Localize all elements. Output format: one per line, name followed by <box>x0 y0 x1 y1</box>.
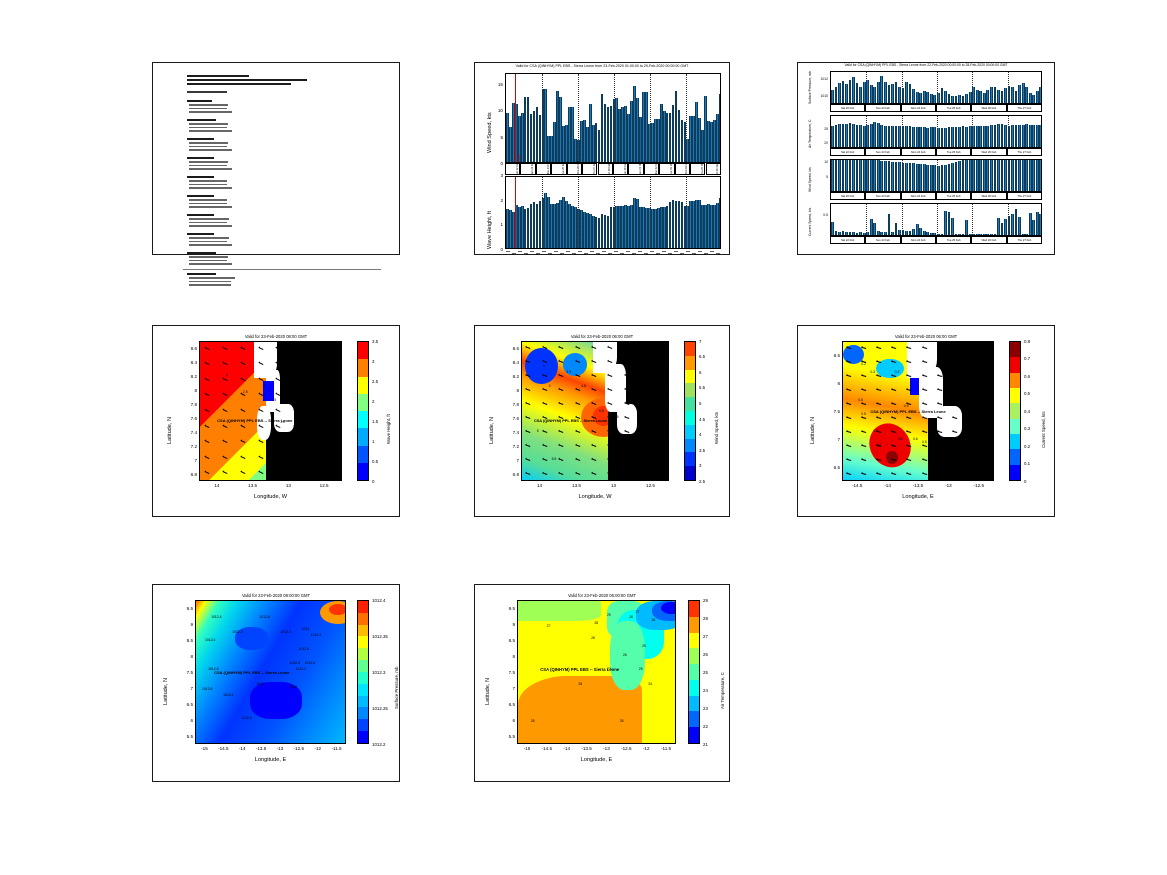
bar <box>859 87 862 104</box>
x-tick-label: -12.5 <box>292 746 306 751</box>
x-tick-label <box>524 253 528 254</box>
bar <box>877 231 880 235</box>
panel-map-surface-pressure: Valid for 23-Feb-2020 08:00:00 GMT 1012.… <box>152 584 400 782</box>
contour-label: 5 <box>649 454 651 458</box>
colorbar-tick-label: 24 <box>703 688 708 693</box>
report-section-line <box>189 237 229 239</box>
contour-label: 0.4 <box>955 451 960 455</box>
contour-label: 0.6 <box>943 437 948 441</box>
contour-label: 4.5 <box>637 434 642 438</box>
bar <box>976 234 979 235</box>
day-band: Thu 27 Feb <box>582 163 597 175</box>
colorbar-tick-label: 2.5 <box>699 479 705 484</box>
bar <box>831 126 834 147</box>
x-tick-label: -13 <box>941 483 955 488</box>
bar <box>1015 125 1018 147</box>
bar <box>873 87 876 104</box>
bar <box>905 82 908 103</box>
bar <box>962 126 965 147</box>
report-section-heading <box>187 273 216 275</box>
bar <box>986 126 989 147</box>
colorbar-tick-label: 1012.35 <box>372 634 388 639</box>
y-tick-label: 8 <box>184 388 197 393</box>
bar <box>852 124 855 147</box>
colorbar-segment <box>689 617 699 633</box>
bar <box>933 95 936 103</box>
report-section-heading <box>187 138 214 140</box>
contour-label: 27 <box>547 624 551 628</box>
bar <box>1039 125 1042 147</box>
report-section-line <box>189 187 232 189</box>
bar <box>1022 234 1025 235</box>
y-tick-label: 6.8 <box>506 472 519 477</box>
y-tick-label: 20 <box>814 141 828 145</box>
day-band: Wed 26 Feb <box>971 236 1006 244</box>
bar <box>873 160 876 191</box>
bar <box>880 232 883 235</box>
bar <box>979 126 982 147</box>
y-tick-label: 1010 <box>814 94 828 98</box>
y-tick-label: 10 <box>495 108 503 113</box>
site-label: CSA (QINHYM) PPL EBS -- Sierra Leone <box>214 670 289 675</box>
bar <box>1029 125 1032 147</box>
x-tick-label <box>710 251 714 252</box>
contour-label: 3 <box>226 373 228 377</box>
x-tick-label <box>506 251 510 252</box>
panel-map-wave-height: Valid for 23-Feb-2020 08:00 GMT 32.521.5… <box>152 325 400 517</box>
report-section-line <box>189 260 227 262</box>
day-band: Tue 03 Mar <box>659 163 674 175</box>
x-tick-label <box>674 251 678 252</box>
bar <box>880 125 883 147</box>
y-tick-label: 7 <box>502 686 515 691</box>
bar <box>933 165 936 191</box>
day-gridline <box>1008 204 1009 235</box>
contour-label: 0.5 <box>858 398 863 402</box>
colorbar-segment <box>358 636 368 648</box>
panel-map-wind-speed: Valid for 23-Feb-2020 06:00 GMT 43.534.5… <box>474 325 730 517</box>
day-gridline <box>614 177 615 248</box>
report-section-line <box>189 222 227 224</box>
colorbar-tick-label: 22 <box>703 724 708 729</box>
colorbar-label-pressure: Surface Pressure, mb <box>394 667 399 709</box>
report-section-heading <box>187 252 216 254</box>
bar <box>831 90 834 103</box>
temp-band-21 <box>661 602 676 614</box>
bar <box>898 162 901 191</box>
day-band-label: Tue 03 Mar <box>670 162 673 175</box>
bar <box>926 92 929 103</box>
day-gridline <box>650 74 651 162</box>
xaxis-label-current-map: Longitude, E <box>842 494 994 500</box>
day-gridline <box>866 116 867 147</box>
x-tick-label <box>668 253 672 254</box>
bar <box>997 160 1000 192</box>
x-tick-label <box>716 253 720 254</box>
day-gridline <box>972 72 973 103</box>
forecast-text-body <box>153 63 399 254</box>
x-tick-label: -12.5 <box>972 483 986 488</box>
colorbar-tick-label: 0 <box>372 479 374 484</box>
bar <box>852 159 855 191</box>
day-band: Mon 24 Feb <box>901 148 936 156</box>
bar <box>845 232 848 235</box>
bar <box>1025 234 1028 235</box>
bars-container <box>831 72 1041 103</box>
colorbar-tick-label: 26 <box>703 652 708 657</box>
bar <box>1025 87 1028 104</box>
map-title-pressure: Valid for 23-Feb-2020 08:00:00 GMT <box>153 593 399 598</box>
bar <box>856 233 859 235</box>
x-tick-label <box>698 251 702 252</box>
y-tick-label: 7 <box>827 437 840 442</box>
day-band: Thu 05 Mar <box>690 163 705 175</box>
panel-timeseries-wind-wave: Valid for CSA (QINHYM) PPL EBS - Sierra … <box>474 62 730 255</box>
colorbar-segment <box>689 664 699 680</box>
x-tick-label <box>614 251 618 252</box>
colorbar-segment <box>358 672 368 684</box>
x-tick-label <box>548 253 552 254</box>
bar <box>845 84 848 103</box>
bar <box>926 165 929 191</box>
colorbar-label-wave: Wave Height, ft <box>386 414 391 444</box>
bar <box>1022 125 1025 147</box>
contour-label: 1013.2 <box>311 633 321 637</box>
report-section-line <box>189 244 232 246</box>
day-band: Sat 22 Feb <box>830 148 865 156</box>
colorbar-tick-label: 3.5 <box>372 339 378 344</box>
y-tick-label: 0.5 <box>814 213 828 217</box>
x-tick-label: -11.5 <box>659 746 673 751</box>
map-title-airtemp: Valid for 23-Feb-2020 06:00:00 GMT <box>475 593 729 598</box>
bar <box>912 127 915 147</box>
bar <box>941 165 944 191</box>
yaxis-label-subplot-3: Current Speed, kts <box>808 208 812 236</box>
report-section-line <box>189 130 232 132</box>
y-tick-label: 15 <box>495 82 503 87</box>
contour-label: 5.5 <box>620 440 625 444</box>
xaxis-label-wind-map: Longitude, W <box>521 494 669 500</box>
colorbar-segment <box>358 394 368 411</box>
bar <box>905 126 908 147</box>
colorbar-pressure <box>357 600 369 744</box>
site-label: CSA (QINHYM) PPL EBS -- Sierra Leone <box>217 418 292 423</box>
now-marker-line <box>515 74 516 162</box>
bar <box>990 160 993 192</box>
colorbar-wave <box>357 341 369 481</box>
day-band: Sun 23 Feb <box>865 104 900 112</box>
x-tick-label: -14.5 <box>850 483 864 488</box>
x-tick-label <box>692 253 696 254</box>
x-tick-label: -11.5 <box>330 746 344 751</box>
map-canvas-pressure: 1012.41012.61012.21012.41012.410131013.2… <box>196 601 346 744</box>
day-gridline <box>1008 116 1009 147</box>
colorbar-segment <box>358 660 368 672</box>
axes-wind-speed: Now <box>505 73 721 163</box>
report-section-heading <box>187 100 212 102</box>
x-tick-label: -13 <box>599 746 613 751</box>
y-tick-label: 1012 <box>814 77 828 81</box>
report-section-line <box>189 149 232 151</box>
y-tick-label: 7.8 <box>506 402 519 407</box>
bar <box>969 126 972 147</box>
report-section-line <box>189 218 229 220</box>
panel-map-current-speed: Valid for 23-Feb-2020 06:00 GMT 0.20.30.… <box>797 325 1055 517</box>
bar <box>884 82 887 103</box>
bar <box>948 164 951 191</box>
bar <box>976 126 979 147</box>
colorbar-tick-label: 25 <box>703 670 708 675</box>
x-tick-label: 12.5 <box>644 483 658 488</box>
x-tick-label: -14.5 <box>216 746 230 751</box>
report-section-heading <box>187 214 214 216</box>
colorbar-tick-label: 0.5 <box>372 459 378 464</box>
x-tick-label <box>566 251 570 252</box>
day-gridline <box>937 204 938 235</box>
bar <box>870 124 873 147</box>
bar <box>994 159 997 191</box>
y-tick-label: 0 <box>495 161 503 166</box>
y-tick-label: 0 <box>495 247 503 252</box>
day-gridline <box>866 72 867 103</box>
y-tick-label: 7.2 <box>506 444 519 449</box>
contour-label: 24 <box>648 682 652 686</box>
colorbar-segment <box>689 727 699 743</box>
bar <box>880 76 883 103</box>
bar <box>870 85 873 103</box>
x-tick-label <box>680 253 684 254</box>
bar <box>909 163 912 191</box>
bar <box>930 127 933 147</box>
report-section-line <box>189 284 231 286</box>
contour-label: 28 <box>594 621 598 625</box>
bar <box>1029 93 1032 103</box>
day-gridline <box>866 204 867 235</box>
day-band: Tue 25 Feb <box>551 163 566 175</box>
contour-label: 0.3 <box>873 429 878 433</box>
x-tick-label <box>560 253 564 254</box>
bar <box>863 159 866 191</box>
report-section-line <box>189 277 235 279</box>
bar <box>1022 83 1025 103</box>
bar <box>923 127 926 147</box>
day-band: Sat 22 Feb <box>830 236 865 244</box>
contour-label: 27 <box>636 610 640 614</box>
day-band-label: Wed 26 Feb <box>577 161 580 175</box>
day-band: Sat 22 Feb <box>830 104 865 112</box>
day-band: Thu 27 Feb <box>1007 236 1042 244</box>
y-tick-label: 8 <box>506 388 519 393</box>
bar <box>990 125 993 147</box>
colorbar-tick-label: 1012.4 <box>372 598 385 603</box>
yaxis-label-pressure-map: Latitude, N <box>163 678 169 705</box>
day-gridline <box>578 74 579 162</box>
bar <box>926 128 929 147</box>
y-tick-label: 8.5 <box>502 638 515 643</box>
report-section-line <box>189 127 227 129</box>
contour-label: 2.5 <box>243 390 248 394</box>
bar <box>919 164 922 191</box>
report-section-heading <box>187 195 214 197</box>
bar <box>895 82 898 103</box>
x-tick-label <box>584 253 588 254</box>
bar <box>958 234 961 235</box>
axes-subplot-1 <box>830 115 1042 148</box>
day-band-label: Fri 28 Feb <box>608 163 611 175</box>
x-tick-label <box>542 251 546 252</box>
pressure-high-peak <box>329 604 346 616</box>
day-gridline <box>902 204 903 235</box>
day-gridline <box>650 177 651 248</box>
bar <box>873 223 876 235</box>
y-tick-label: 7.8 <box>184 402 197 407</box>
x-tick-label <box>602 251 606 252</box>
bar <box>990 234 993 235</box>
bar <box>888 214 891 235</box>
bar <box>880 161 883 191</box>
colorbar-segment <box>358 446 368 463</box>
day-gridline <box>902 72 903 103</box>
bar <box>994 87 997 104</box>
bar <box>1039 160 1042 191</box>
panel-timeseries-four: Valid for CSA (QINHYM) PPL EBS - Sierra … <box>797 62 1055 255</box>
x-tick-label <box>656 253 660 254</box>
y-tick-label: 7.5 <box>502 670 515 675</box>
x-tick-label: 12.5 <box>317 483 331 488</box>
day-gridline <box>1008 160 1009 191</box>
y-tick-label: 25 <box>814 127 828 131</box>
bar <box>884 126 887 147</box>
bar <box>873 122 876 147</box>
report-section-heading <box>187 119 216 121</box>
y-tick-label: 9 <box>502 622 515 627</box>
colorbar-wind <box>684 341 696 481</box>
yaxis-label-subplot-1: Air Temperature, C <box>808 120 812 148</box>
bar <box>962 96 965 103</box>
colorbar-tick-label: 1.5 <box>372 419 378 424</box>
colorbar-segment <box>685 342 695 356</box>
bar <box>912 229 915 235</box>
day-band: Sun 23 Feb <box>865 236 900 244</box>
bar <box>859 125 862 147</box>
contour-label: 26 <box>652 618 656 622</box>
bar <box>838 124 841 147</box>
x-tick-label <box>590 251 594 252</box>
bar <box>1029 213 1032 235</box>
bar <box>888 126 891 147</box>
x-tick-label <box>704 253 708 254</box>
report-divider <box>183 269 381 270</box>
bar <box>941 88 944 103</box>
bar <box>831 222 834 235</box>
y-tick-label: 1 <box>495 222 503 227</box>
bar <box>969 92 972 103</box>
day-band: Mon 02 Mar <box>644 163 659 175</box>
y-tick-label: 8.5 <box>180 638 193 643</box>
bar <box>1004 219 1007 235</box>
x-tick-label <box>608 253 612 254</box>
report-header-line <box>187 79 307 81</box>
x-tick-label <box>572 253 576 254</box>
day-band: Sun 23 Feb <box>865 192 900 200</box>
report-section-line <box>189 104 228 106</box>
day-gridline <box>937 160 938 191</box>
now-marker-label: Now <box>517 155 521 162</box>
landmass <box>617 404 638 435</box>
bar <box>1039 214 1042 235</box>
bar <box>856 125 859 147</box>
y-tick-label: 6 <box>180 718 193 723</box>
bar <box>916 224 919 235</box>
bar <box>898 126 901 147</box>
bar <box>1001 91 1004 103</box>
colorbar-segment <box>1010 342 1020 357</box>
bar <box>948 94 951 103</box>
xaxis-label-airtemp-map: Longitude, E <box>517 757 676 763</box>
contour-label: 0.6 <box>898 437 903 441</box>
bar <box>919 93 922 103</box>
contour-label: 25 <box>642 644 646 648</box>
colorbar-tick-label: 0 <box>1024 479 1026 484</box>
bar <box>877 160 880 191</box>
x-tick-label: -14 <box>881 483 895 488</box>
day-band-label: Tue 25 Feb <box>562 162 565 175</box>
yaxis-label-subplot-2: Wind Speed, kts <box>808 167 812 192</box>
bar <box>835 125 838 147</box>
day-gridline <box>866 160 867 191</box>
day-band: Mon 24 Feb <box>901 236 936 244</box>
colorbar-tick-label: 0.3 <box>1024 426 1030 431</box>
colorbar-tick-label: 23 <box>703 706 708 711</box>
bar <box>1025 124 1028 147</box>
y-tick-label: 8.6 <box>184 346 197 351</box>
y-tick-label: 7 <box>506 458 519 463</box>
day-band: Mon 24 Feb <box>901 104 936 112</box>
day-gridline <box>542 74 543 162</box>
bar <box>842 231 845 235</box>
bar <box>997 124 1000 147</box>
bar <box>891 162 894 191</box>
bar <box>962 160 965 191</box>
bar <box>912 89 915 103</box>
contour-label: 0.2 <box>861 362 866 366</box>
bar <box>863 233 866 235</box>
bar <box>976 90 979 103</box>
contour-label: 0.5 <box>922 440 927 444</box>
yaxis-label-wave-height: Wave Height, ft <box>487 211 493 249</box>
y-tick-label: 10 <box>814 160 828 164</box>
bar <box>842 81 845 103</box>
contour-label: 0.5 <box>904 404 909 408</box>
bar <box>1011 87 1014 103</box>
day-band: Thu 27 Feb <box>1007 192 1042 200</box>
day-gridline <box>578 177 579 248</box>
contour-label: 5 <box>537 429 539 433</box>
bar <box>895 223 898 235</box>
bar <box>969 160 972 192</box>
day-band: Wed 26 Feb <box>971 192 1006 200</box>
bar <box>930 94 933 103</box>
bar <box>1036 91 1039 103</box>
contour-label: 0.6 <box>971 434 976 438</box>
x-tick-label <box>596 253 600 254</box>
colorbar-segment <box>358 684 368 696</box>
day-gridline <box>614 74 615 162</box>
colorbar-segment <box>685 439 695 453</box>
bar <box>849 232 852 235</box>
contour-label: 1012.8 <box>299 647 309 651</box>
bar <box>1011 125 1014 147</box>
